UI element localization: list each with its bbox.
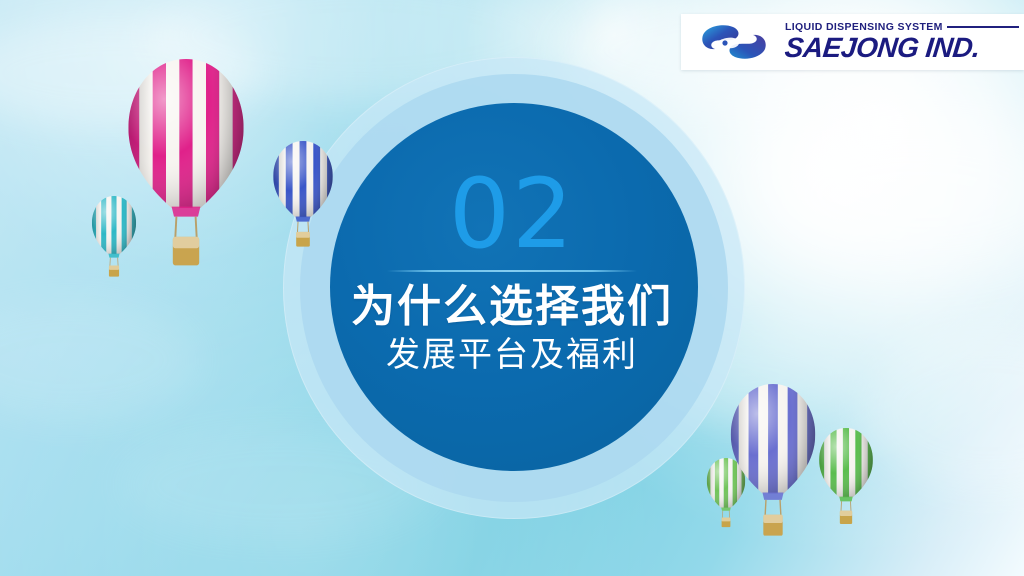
cloud-wisp <box>760 120 1024 270</box>
balloon-green-medium <box>818 428 874 528</box>
logo-company-name: SAEJONG IND. <box>783 33 1020 63</box>
saejong-swirl-emblem-icon <box>697 21 771 63</box>
cloud-wisp <box>0 300 200 420</box>
logo-text-block: LIQUID DISPENSING SYSTEM SAEJONG IND. <box>785 21 1019 63</box>
cloud-wisp <box>860 330 1024 490</box>
logo-tagline-rule <box>947 26 1019 28</box>
company-logo: LIQUID DISPENSING SYSTEM SAEJONG IND. <box>681 14 1024 70</box>
balloon-purple-large <box>729 384 817 542</box>
balloon-blue-medium <box>272 141 334 251</box>
balloon-pink-large <box>126 59 246 274</box>
section-disc <box>330 103 698 471</box>
slide-root: 02 为什么选择我们 发展平台及福利 <box>0 0 1024 576</box>
